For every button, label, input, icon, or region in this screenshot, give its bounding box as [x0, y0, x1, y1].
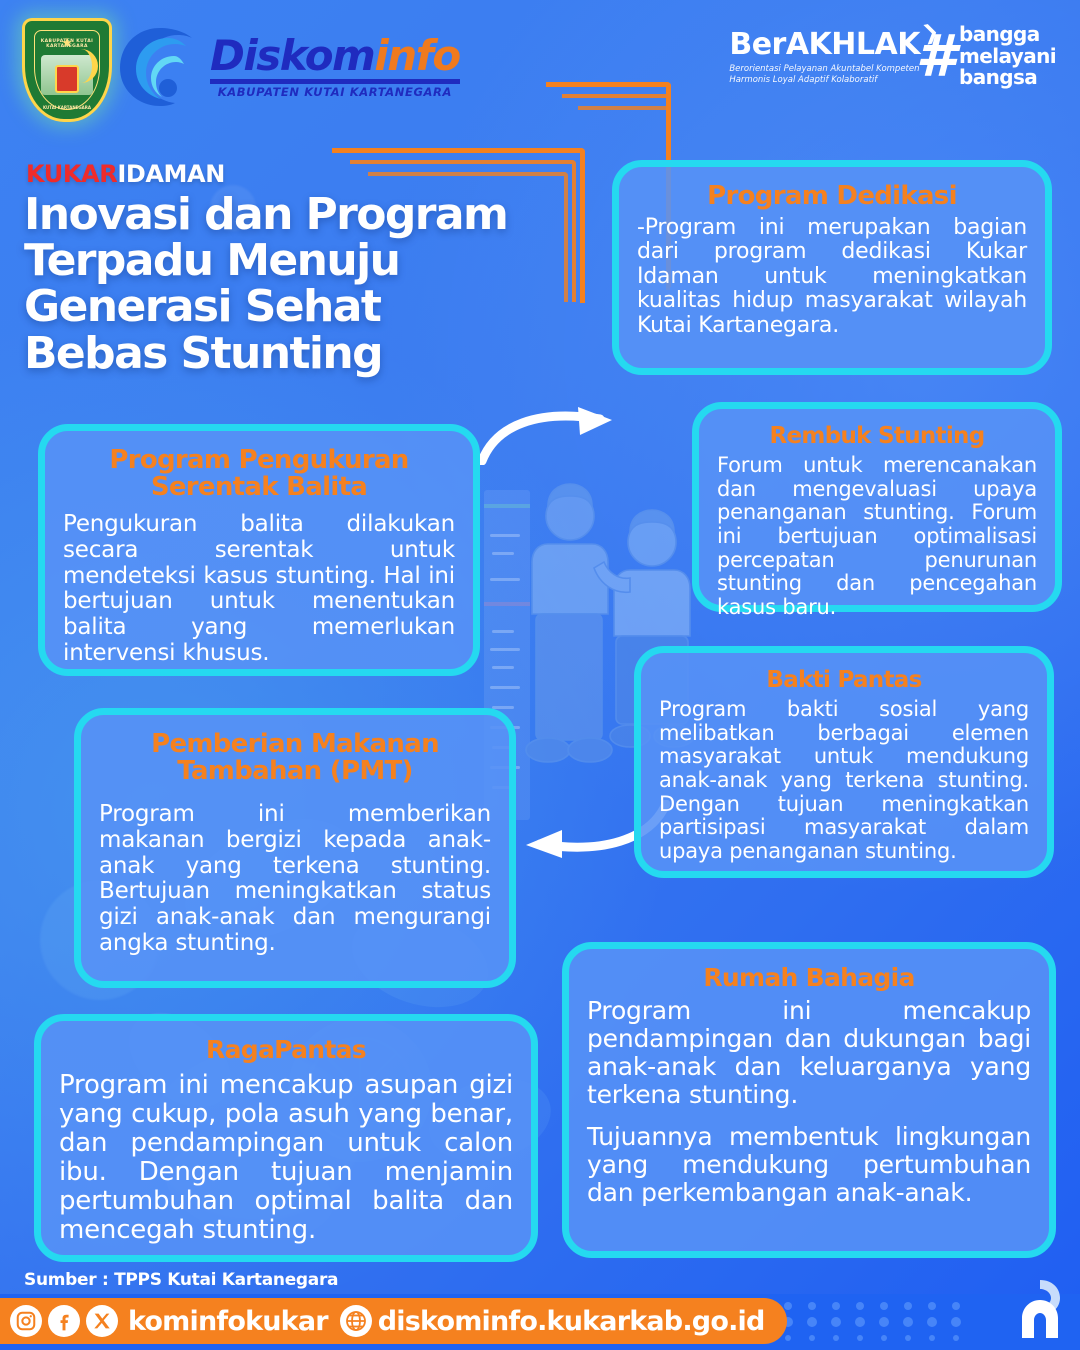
kicker-kukar: KUKAR [26, 160, 117, 188]
kabupaten-crest-logo: KABUPATEN KUTAI KARTANEGARA ★ KUTAI KART… [22, 18, 106, 116]
card-pemberian-makanan-tambahan[interactable]: Pemberian Makanan Tambahan (PMT) Program… [74, 708, 516, 988]
card-program-dedikasi[interactable]: Program Dedikasi -Program ini merupakan … [612, 160, 1052, 375]
hash-icon: # [916, 33, 952, 81]
card-rembuk-stunting[interactable]: Rembuk Stunting Forum untuk merencanakan… [692, 402, 1062, 612]
card-paragraph: Program ini memberikan makanan bergizi k… [99, 802, 491, 957]
curved-arrow-up-right-icon [478, 405, 628, 465]
card-body: Program bakti sosial yang melibatkan ber… [659, 698, 1029, 863]
card-bakti-pantas[interactable]: Bakti Pantas Program bakti sosial yang m… [634, 646, 1054, 878]
page-title-line-4: Bebas Stunting [24, 331, 544, 377]
card-title: Program Pengukuran Serentak Balita [63, 447, 455, 500]
card-paragraph: Program ini mencakup asupan gizi yang cu… [59, 1071, 513, 1246]
card-paragraph: Pengukuran balita dilakukan secara seren… [63, 512, 455, 667]
berakhlak-title: BerAKHLAK [729, 27, 920, 62]
globe-icon[interactable] [340, 1305, 372, 1337]
card-program-pengukuran-serentak-balita[interactable]: Program Pengukuran Serentak Balita Pengu… [38, 424, 480, 676]
card-title: RagaPantas [59, 1037, 513, 1063]
card-body: Program ini memberikan makanan bergizi k… [99, 802, 491, 957]
card-body: -Program ini merupakan bagian dari progr… [637, 216, 1027, 339]
card-title: Rembuk Stunting [717, 425, 1037, 448]
diskominfo-subtitle: KABUPATEN KUTAI KARTANEGARA [210, 87, 460, 99]
berakhlak-logo: BerAKHLAK ❯ Berorientasi Pelayanan Akunt… [729, 30, 920, 87]
card-title: Rumah Bahagia [587, 965, 1031, 991]
crest-caption-bottom: KUTAI KARTANEGARA [25, 105, 109, 110]
website-url: diskominfo.kukarkab.go.id [378, 1306, 765, 1337]
source-note: Sumber : TPPS Kutai Kartanegara [24, 1270, 338, 1290]
kicker-idaman: IDAMAN [117, 160, 225, 188]
page-title: Inovasi dan Program Terpadu Menuju Gener… [24, 192, 544, 377]
card-rumah-bahagia[interactable]: Rumah Bahagia Program ini mencakup penda… [562, 942, 1056, 1258]
bangga-line-3: bangsa [959, 67, 1056, 89]
card-title: Bakti Pantas [659, 669, 1029, 692]
card-paragraph: Tujuannya membentuk lingkungan yang mend… [587, 1123, 1031, 1207]
card-ragapantas[interactable]: RagaPantas Program ini mencakup asupan g… [34, 1014, 538, 1262]
card-body: Forum untuk merencanakan dan mengevaluas… [717, 454, 1037, 619]
bangga-line-1: bangga [959, 24, 1056, 46]
card-paragraph: Program ini mencakup pendampingan dan du… [587, 997, 1031, 1109]
facebook-icon[interactable] [48, 1305, 80, 1337]
berakhlak-subtitle-1: Berorientasi Pelayanan Akuntabel Kompete… [729, 64, 920, 75]
kukar-idaman-mark [1008, 1278, 1070, 1340]
card-paragraph: Program bakti sosial yang melibatkan ber… [659, 698, 1029, 863]
social-bar: kominfokukar diskominfo.kukarkab.go.id [0, 1298, 787, 1344]
infographic-poster: KABUPATEN KUTAI KARTANEGARA ★ KUTAI KART… [0, 0, 1080, 1350]
x-twitter-icon[interactable] [86, 1305, 118, 1337]
page-title-line-3: Generasi Sehat [24, 284, 544, 330]
page-kicker: KUKARIDAMAN [26, 160, 225, 188]
card-title: Program Dedikasi [637, 183, 1027, 210]
card-title: Pemberian Makanan Tambahan (PMT) [99, 731, 491, 784]
berakhlak-subtitle-2: Harmonis Loyal Adaptif Kolaboratif [729, 75, 920, 86]
star-icon: ★ [61, 37, 73, 50]
social-handle: kominfokukar [128, 1306, 328, 1337]
bangga-line-2: melayani [959, 46, 1056, 68]
card-body: Program ini mencakup pendampingan dan du… [587, 997, 1031, 1207]
instagram-icon[interactable] [10, 1305, 42, 1337]
diskominfo-underline [210, 79, 460, 84]
card-paragraph: Forum untuk merencanakan dan mengevaluas… [717, 454, 1037, 619]
card-paragraph: -Program ini merupakan bagian dari progr… [637, 216, 1027, 339]
page-title-line-2: Terpadu Menuju [24, 238, 544, 284]
card-body: Pengukuran balita dilakukan secara seren… [63, 512, 455, 667]
diskominfo-word-part2: info [374, 31, 459, 80]
diskominfo-logo: Diskominfo KABUPATEN KUTAI KARTANEGARA [118, 26, 460, 108]
card-body: Program ini mencakup asupan gizi yang cu… [59, 1071, 513, 1246]
bangga-melayani-bangsa-logo: # bangga melayani bangsa [916, 24, 1056, 89]
wave-icon [118, 26, 202, 108]
diskominfo-word-part1: Diskom [210, 31, 374, 80]
page-title-line-1: Inovasi dan Program [24, 192, 544, 238]
